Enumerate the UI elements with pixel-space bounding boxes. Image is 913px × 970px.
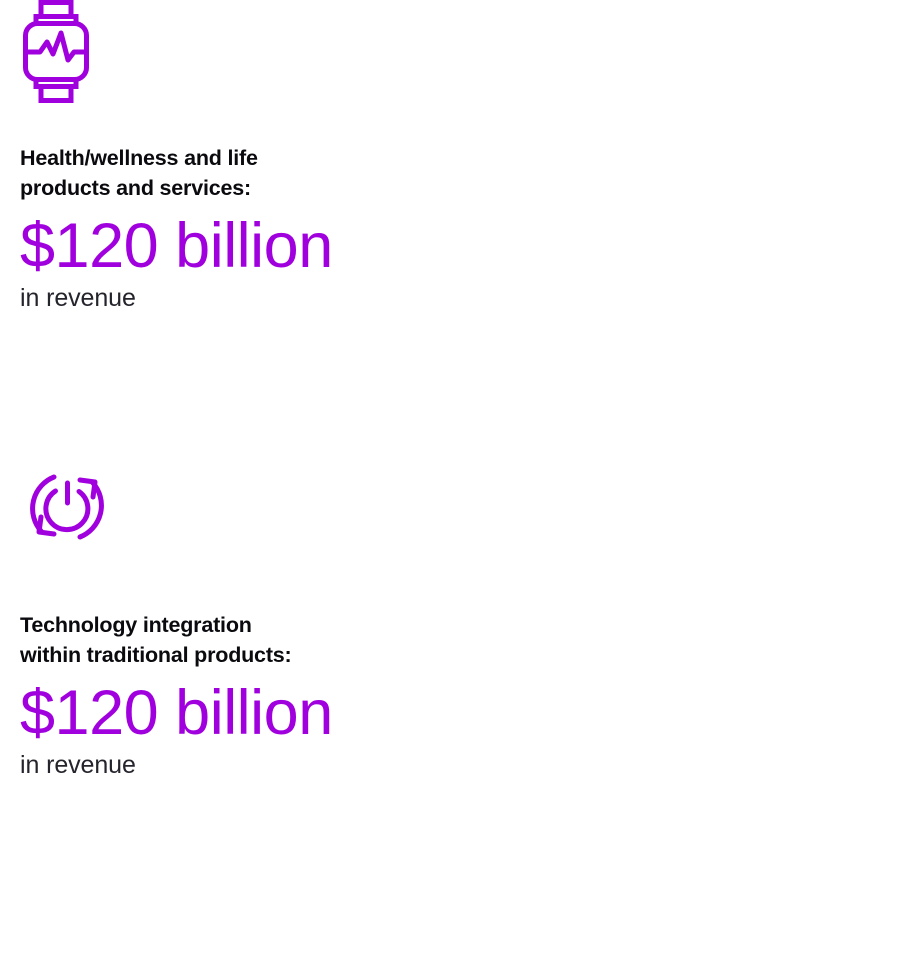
stats-grid: Health/wellness and life products and se…	[0, 0, 913, 791]
stat-subtext: in revenue	[20, 281, 528, 313]
stat-value: $120 billion	[20, 670, 528, 748]
stat-card-sharing-economy: Sharing economy, climate change, and cyb…	[528, 0, 913, 440]
stat-card-alternative-distribution: Shift to alternative distribution: $125 …	[528, 440, 913, 791]
power-refresh-icon	[20, 440, 528, 574]
stat-card-health-wellness: Health/wellness and life products and se…	[0, 0, 528, 440]
smartwatch-heartbeat-icon	[20, 0, 528, 110]
stat-card-technology-integration: Technology integration within traditiona…	[0, 440, 528, 791]
stat-heading: Health/wellness and life products and se…	[20, 110, 528, 203]
stat-subtext: in revenue	[20, 748, 528, 780]
stat-heading: Technology integration within traditiona…	[20, 574, 528, 670]
stat-value: $120 billion	[20, 203, 528, 281]
